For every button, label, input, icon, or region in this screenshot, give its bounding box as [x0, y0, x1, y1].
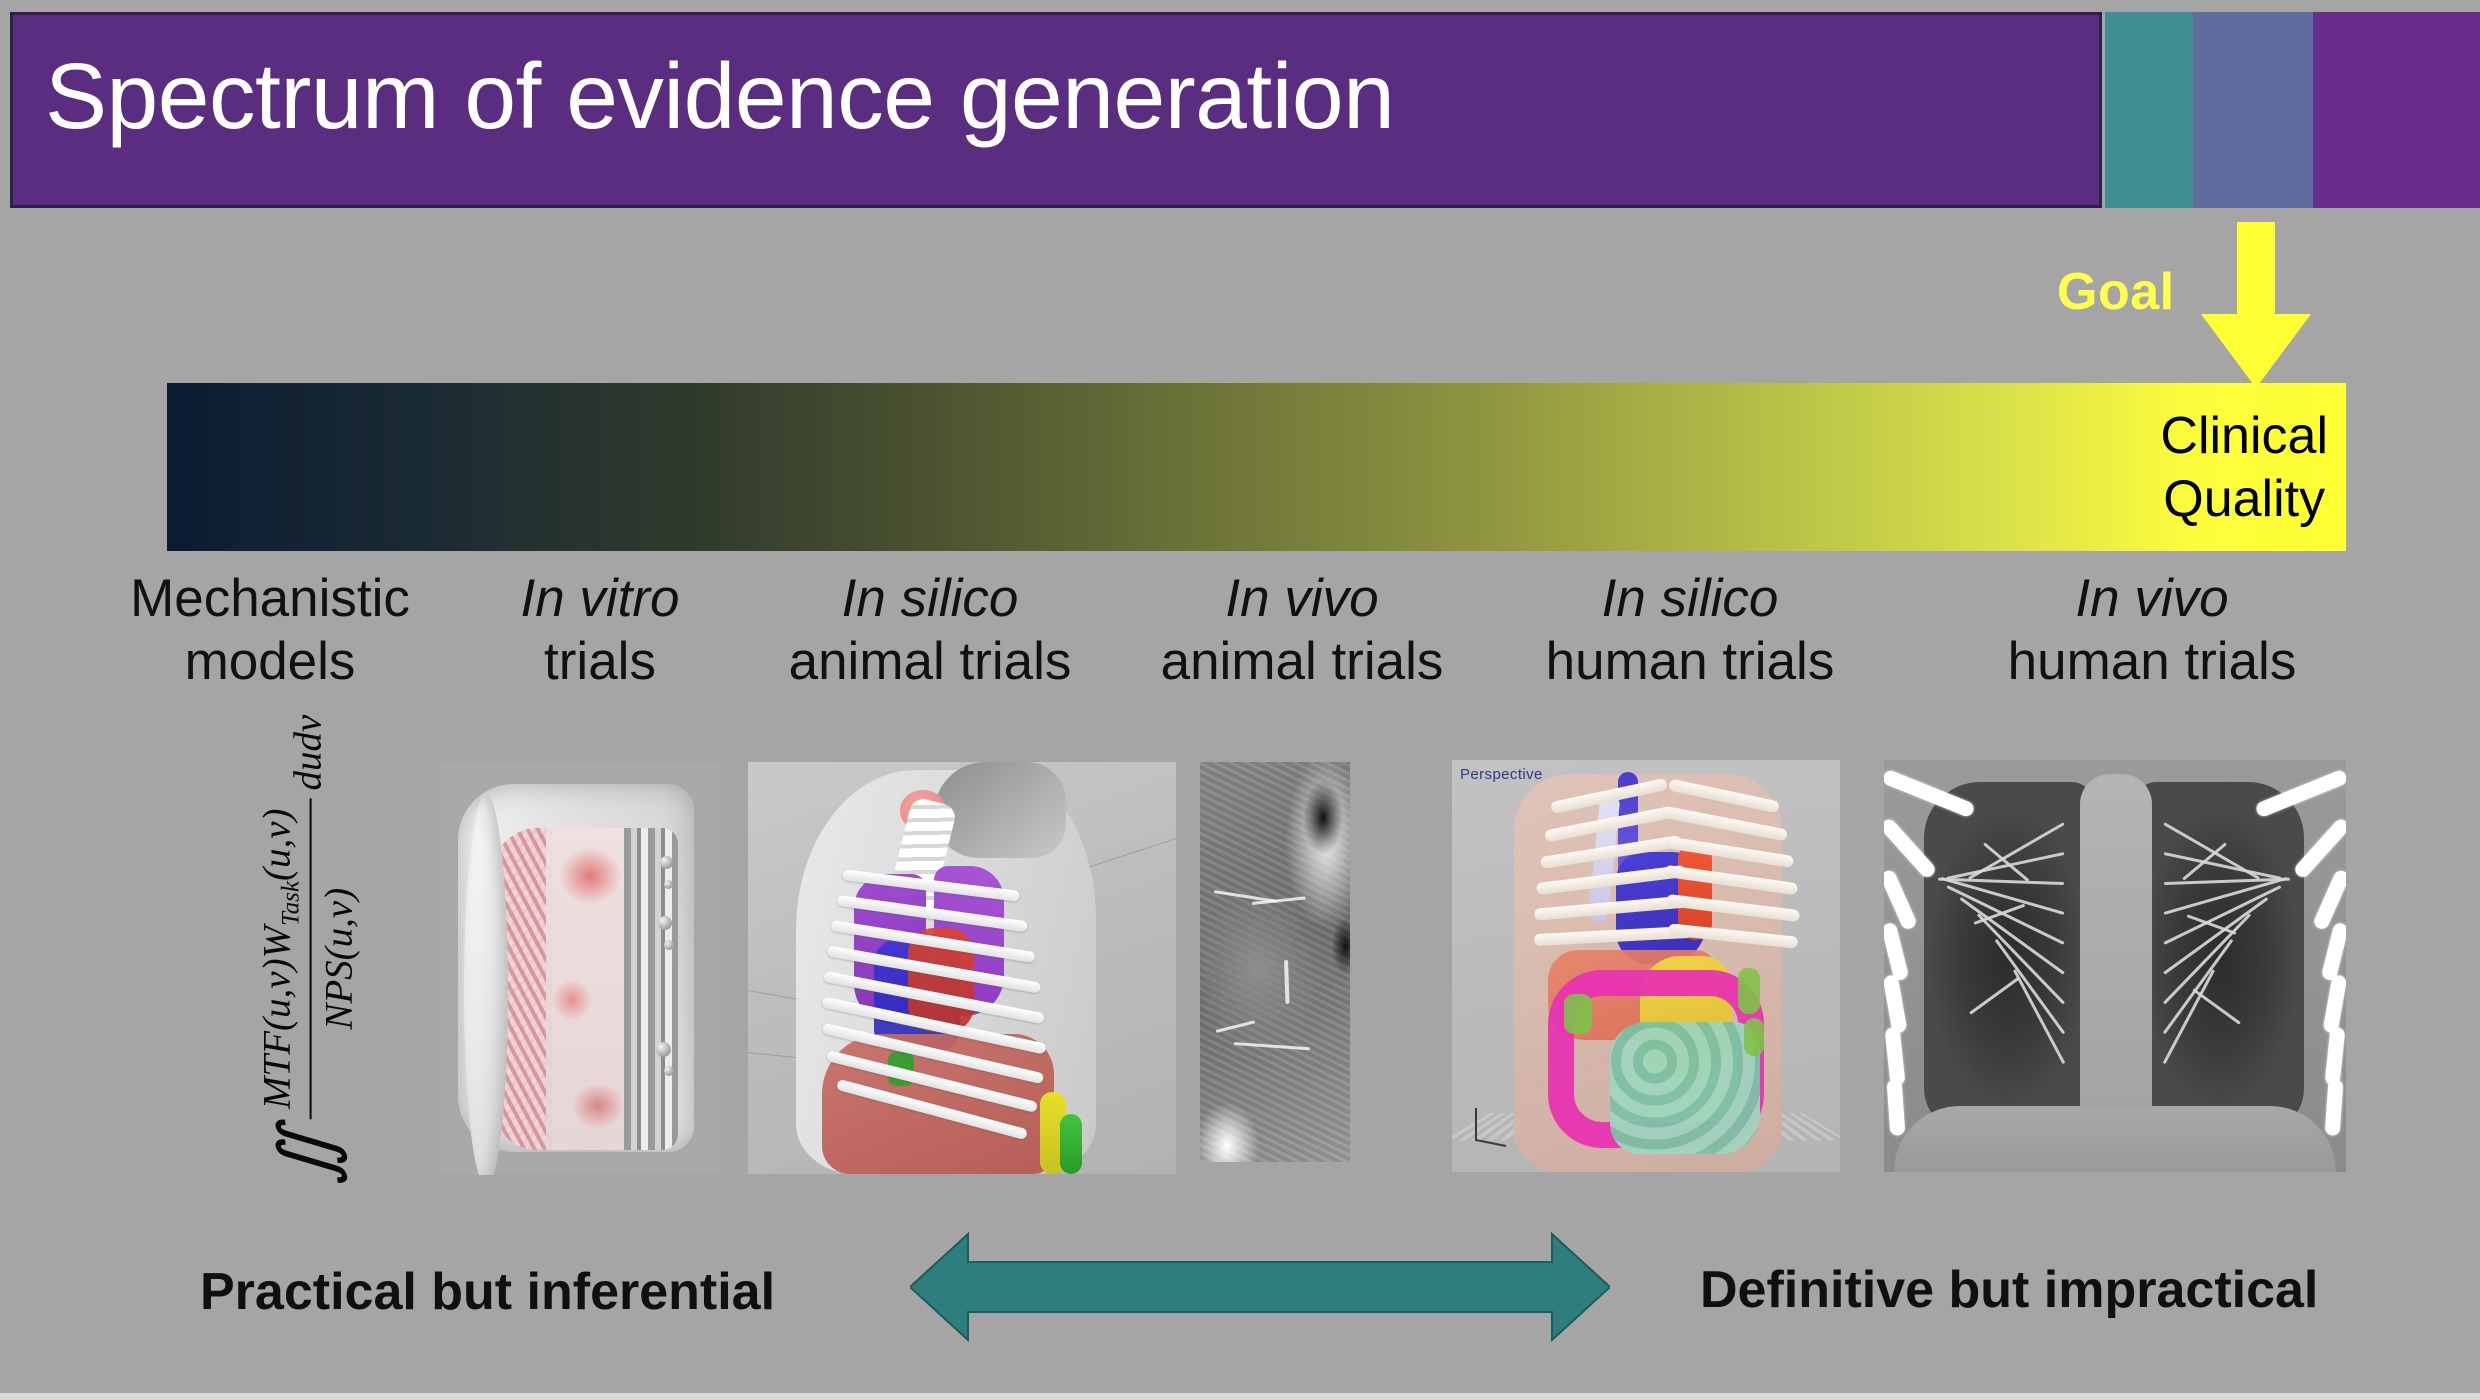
presentation-slide: Spectrum of evidence generation Goal Cli… — [0, 0, 2480, 1399]
stage-top: In silico — [740, 568, 1120, 631]
formula-mtf: MTF — [256, 1031, 299, 1109]
formula-w: W — [256, 926, 299, 959]
in-vitro-phantom-image — [440, 762, 720, 1175]
accent-stripe-teal — [2105, 12, 2193, 208]
stage-bottom: animal trials — [740, 631, 1120, 694]
double-integral-symbol: ∬ — [278, 1127, 337, 1185]
stage-label-in-vitro-trials: In vitro trials — [450, 568, 750, 693]
in-vivo-animal-radiograph-image — [1200, 762, 1350, 1162]
double-headed-arrow-icon — [910, 1232, 1610, 1342]
stage-top: In vivo — [1952, 568, 2352, 631]
stage-bottom: human trials — [1952, 631, 2352, 694]
stage-label-row: Mechanistic models In vitro trials In si… — [90, 568, 2390, 708]
in-silico-animal-phantom-image — [748, 762, 1176, 1174]
accent-stripe-slate — [2193, 12, 2313, 208]
stage-top: In silico — [1490, 568, 1890, 631]
page-title: Spectrum of evidence generation — [45, 43, 1394, 150]
stage-bottom: human trials — [1490, 631, 1890, 694]
clinical-quality-line1: Clinical — [2160, 407, 2328, 465]
formula-nps: NPS(u,v) — [311, 798, 361, 1118]
accent-stripe-purple — [2313, 12, 2480, 208]
down-arrow-icon — [2197, 222, 2315, 390]
clinical-quality-label: Clinical Quality — [2160, 405, 2328, 532]
title-bar: Spectrum of evidence generation — [10, 12, 2102, 208]
stage-top: Mechanistic — [90, 568, 450, 631]
in-silico-human-phantom-image: Perspective — [1452, 760, 1840, 1172]
practical-inferential-label: Practical but inferential — [200, 1262, 775, 1322]
formula-subscript-task: Task — [277, 881, 304, 926]
viewport-perspective-label: Perspective — [1460, 766, 1543, 783]
stage-label-in-vivo-human-trials: In vivo human trials — [1952, 568, 2352, 693]
formula-args1: (u,v) — [256, 958, 299, 1031]
stage-top: In vitro — [450, 568, 750, 631]
stage-label-in-vivo-animal-trials: In vivo animal trials — [1112, 568, 1492, 693]
stage-bottom: animal trials — [1112, 631, 1492, 694]
stage-label-in-silico-human-trials: In silico human trials — [1490, 568, 1890, 693]
in-vivo-human-chest-ct-image — [1884, 760, 2346, 1172]
stage-label-in-silico-animal-trials: In silico animal trials — [740, 568, 1120, 693]
stage-bottom: trials — [450, 631, 750, 694]
stage-label-mechanistic-models: Mechanistic models — [90, 568, 450, 693]
goal-label: Goal — [2057, 262, 2175, 322]
definitive-impractical-label: Definitive but impractical — [1700, 1260, 2318, 1320]
formula-args2: (u,v) — [256, 808, 299, 881]
axis-gizmo-icon — [1466, 1102, 1514, 1150]
stage-top: In vivo — [1112, 568, 1492, 631]
stage-bottom: models — [90, 631, 450, 694]
formula-differential: dudv — [285, 715, 330, 791]
clinical-quality-line2: Quality — [2163, 470, 2325, 528]
evidence-spectrum-bar: Clinical Quality — [167, 383, 2346, 551]
